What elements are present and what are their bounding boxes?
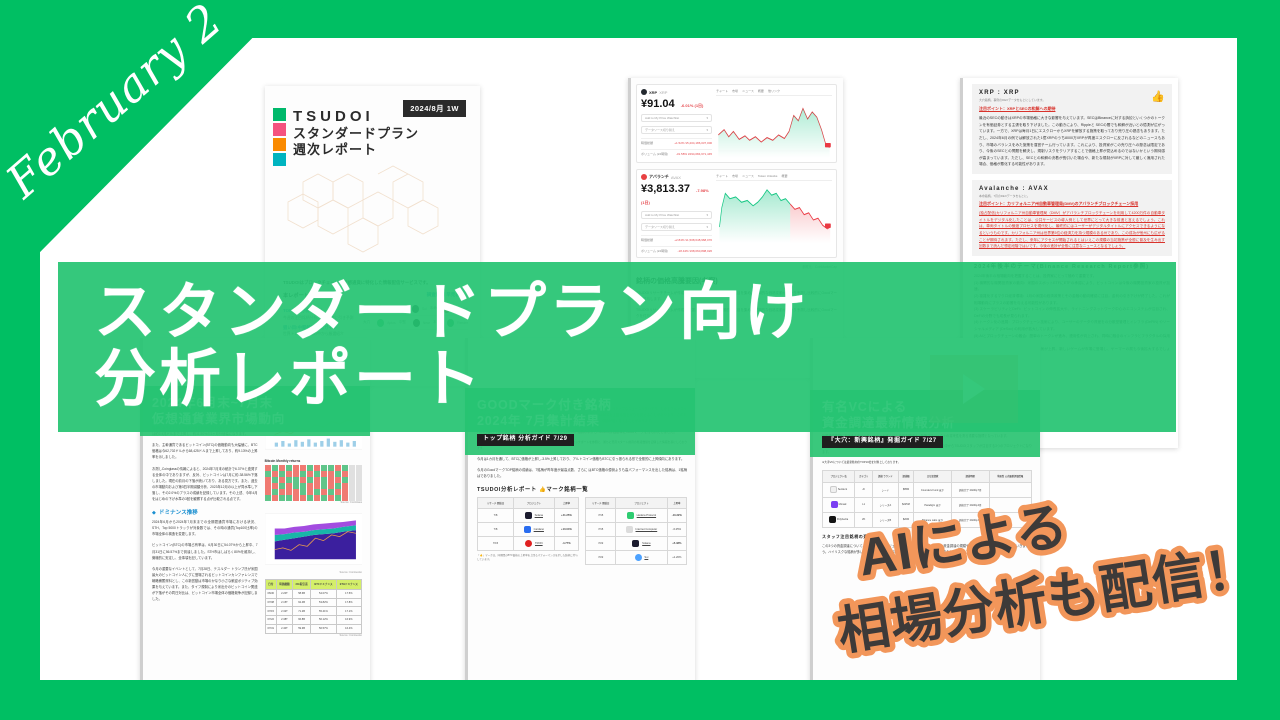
block-title: Avalanche : AVAX bbox=[979, 186, 1165, 192]
th-volume: 24h取引高 bbox=[292, 579, 310, 589]
stat-value: -18.44% ¥68,060,808,026 bbox=[678, 249, 713, 253]
token-icon bbox=[626, 526, 633, 533]
coin-title: アバランチ AVAX bbox=[641, 174, 712, 180]
project-name: Sentient bbox=[838, 488, 847, 491]
price-value: ¥3,813.37 bbox=[641, 183, 690, 195]
swatch-pink bbox=[273, 123, 286, 136]
table-row: Monad L1 シリーズA $225M Paradigm ほか 調達完了 20… bbox=[823, 497, 1032, 512]
analysis-block-avax: Avalanche : AVAX 本命銘柄。7月のDEXデータをもとに。 注目ポ… bbox=[972, 180, 1172, 256]
market-para-2: また、主幹通貨であるビットコイン(BTC)の価格動向も大幅値に、BTC価格は今6… bbox=[152, 442, 258, 460]
watchlist-label: Add to My Price Watchlist bbox=[645, 116, 679, 120]
table-row: 7/22 Solana +5.48% bbox=[586, 537, 687, 551]
project-name: Hedera Protocol bbox=[637, 514, 656, 517]
table-source: Source: CoinGecko bbox=[265, 634, 362, 637]
project-name: Sui bbox=[644, 556, 648, 559]
tab-market[interactable]: 市場 bbox=[732, 174, 738, 178]
th-change: 上昇率 bbox=[554, 498, 578, 509]
th-amount: 調達額 bbox=[898, 470, 914, 482]
coin-ticker-label: XRP bbox=[659, 90, 667, 95]
table-row: 07/082.15T 62.4B53.82% 17.8% bbox=[265, 598, 361, 607]
market-para-5: ビットコイン(BTC)の市場占有率は、6月30日に54.07%から上昇中、7月3… bbox=[152, 542, 258, 560]
token-icon bbox=[525, 512, 532, 519]
table-row: 06/302.20T 58.6B54.07% 17.5% bbox=[265, 589, 361, 598]
stat-market-cap: 時価総額 +1.52% ¥5,204,186,037,000 bbox=[641, 138, 712, 145]
watchlist-dropdown[interactable]: Add to My Price Watchlist▾ bbox=[641, 114, 712, 122]
tab-overview[interactable]: 概要 bbox=[781, 174, 787, 178]
project-name: Monad bbox=[839, 503, 847, 506]
price-change: -6.01% (1日) bbox=[681, 103, 704, 108]
xrp-price-sparkline bbox=[716, 96, 832, 158]
brand-swatches bbox=[273, 108, 286, 166]
market-para-4: 2024年6月から2024年7月末までの全期間通貨市場における状況、STH、To… bbox=[152, 519, 258, 537]
project-name: Polyhedra bbox=[837, 518, 848, 521]
vc-footer-heading: スタッフ注目銘柄の選定基準 bbox=[822, 534, 1032, 540]
block-lead: 注目ポイント：XRPとSECの和解への期待 bbox=[979, 106, 1165, 112]
th-outlook: 将来性 公式最新評価情報 bbox=[989, 470, 1031, 482]
th-round: 調達 ラウンド bbox=[873, 470, 899, 482]
stat-volume: ボリューム (24時間) -18.44% ¥68,060,808,026 bbox=[641, 246, 712, 253]
stat-label: ボリューム (24時間) bbox=[641, 249, 668, 253]
coin-name-label: XRP bbox=[649, 90, 657, 95]
swatch-green bbox=[273, 108, 286, 121]
th-ethdom: ETHドミナンス bbox=[336, 579, 361, 589]
table-row: 07/152.32T 71.2B55.41% 17.1% bbox=[265, 607, 361, 616]
block-lead: 注目ポイント：カリフォルニア州自動車管理局(DMV)のアバランチブロックチェーン… bbox=[979, 201, 1165, 207]
project-name: Internet Computer bbox=[636, 528, 658, 531]
table-row: 7/15 Internet Computer -6.25% bbox=[586, 523, 687, 537]
block-subtitle: 本命銘柄。7月のDEXデータをもとに。 bbox=[979, 194, 1165, 198]
datasource-label: データソース切り替え bbox=[645, 128, 675, 132]
hexagon-pattern-decoration bbox=[273, 162, 473, 272]
avalanche-logo-icon bbox=[641, 174, 647, 180]
project-name: TRON bbox=[535, 542, 543, 545]
project-logo-icon bbox=[829, 516, 836, 523]
table-row: Polyhedra ZK シリーズB $20M Binance Labs ほか … bbox=[823, 512, 1032, 527]
coin-price: ¥91.04 -6.01% (1日) bbox=[641, 98, 712, 110]
project-name: Solana bbox=[535, 514, 543, 517]
th-project: プロジェクト bbox=[514, 498, 555, 509]
stat-label: 時価総額 bbox=[641, 141, 653, 145]
price-card-avax: アバランチ AVAX ¥3,813.37 -7.98% (1日) Add to … bbox=[636, 169, 837, 258]
table-row: 07/222.38T 66.8B56.12% 16.9% bbox=[265, 616, 361, 625]
vc-funding-table: プロジェクト名 カテゴリ 調達 ラウンド 調達額 主な投資家 調達時期 将来性 … bbox=[822, 470, 1032, 528]
th-date: 日付 bbox=[265, 579, 276, 589]
brand-name: TSUDOI bbox=[293, 108, 419, 126]
token-icon bbox=[524, 526, 531, 533]
cover-date-badge: 2024/8月 1W bbox=[403, 100, 466, 117]
coin-title: XRP XRP bbox=[641, 89, 712, 95]
token-icon bbox=[627, 512, 634, 519]
monthly-returns-heatmap bbox=[265, 465, 362, 501]
good-table-right: リサーチ 開始日 プロジェクト 上昇率 7/15 Hedera Protocol… bbox=[585, 497, 687, 565]
stat-label: 時価総額 bbox=[641, 238, 653, 242]
tab-overview[interactable]: 概要 bbox=[758, 89, 764, 93]
block-title: XRP : XRP bbox=[979, 90, 1045, 96]
dominance-data-table: 日付 時価総額 24h取引高 BTCドミナンス ETHドミナンス 06/302.… bbox=[265, 579, 362, 634]
market-section-heading-2: ドミナンス推移 bbox=[152, 508, 258, 516]
watchlist-dropdown[interactable]: Add to My Price Watchlist▾ bbox=[641, 211, 712, 219]
cover-title-line2: 週次レポート bbox=[293, 142, 419, 158]
tab-market[interactable]: 市場 bbox=[732, 89, 738, 93]
chart-nav-tabs[interactable]: チャート 市場 ニュース 概要 他リンク bbox=[716, 89, 832, 96]
block-body: 最近のSECの動きはXRPの市場価格に大きな影響を与えています。SECはBina… bbox=[979, 115, 1165, 168]
chart-nav-tabs[interactable]: チャート 市場 ニュース Token Unlocks 概要 bbox=[716, 174, 832, 181]
swatch-orange bbox=[273, 138, 286, 151]
market-para-3: お測しCoinglassの情報によると、2024年7月末の統計で6.37%と連発… bbox=[152, 466, 258, 503]
xrp-logo-icon bbox=[641, 89, 647, 95]
table-row: 7/15 Hedera Protocol -10.32% bbox=[586, 509, 687, 523]
th-category: カテゴリ bbox=[855, 470, 873, 482]
cover-title-line1: スタンダードプラン bbox=[293, 126, 419, 142]
good-table-note: 「👍」マークは、同期間のBTC価格の上昇率を上回るパフォーマンスを示した銘柄に付… bbox=[477, 554, 579, 562]
th-marketcap: 時価総額 bbox=[276, 579, 292, 589]
stat-label: ボリューム (24時間) bbox=[641, 152, 668, 156]
table-header-row: 日付 時価総額 24h取引高 BTCドミナンス ETHドミナンス bbox=[265, 579, 361, 589]
coin-name-label: アバランチ bbox=[649, 174, 669, 180]
avax-price-sparkline bbox=[716, 181, 832, 243]
table-header-row: プロジェクト名 カテゴリ 調達 ラウンド 調達額 主な投資家 調達時期 将来性 … bbox=[823, 470, 1032, 482]
main-title-banner: スタンダードプラン向け 分析レポート bbox=[58, 262, 1176, 432]
stat-market-cap: 時価総額 +2.84% ¥1,508,648,968,070 bbox=[641, 235, 712, 242]
market-para-6: 今月の重要なイベントとして、7月28日、テスルダー トランプ氏が米国最大のビット… bbox=[152, 566, 258, 603]
th-start-date: リサーチ 開始日 bbox=[478, 498, 514, 509]
table-row: Sentient AI シード $85M Founders Fund ほか 調達… bbox=[823, 482, 1032, 497]
token-icon bbox=[635, 554, 642, 561]
tab-chart[interactable]: チャート bbox=[716, 89, 728, 93]
stat-volume: ボリューム (24時間) -31.58% ¥294,084,671,445 bbox=[641, 149, 712, 156]
tab-token-unlocks[interactable]: Token Unlocks bbox=[758, 174, 778, 178]
table-row: 7/8 Solana +41.25% bbox=[478, 509, 579, 523]
tab-links[interactable]: 他リンク bbox=[768, 89, 780, 93]
price-card-xrp: XRP XRP ¥91.04 -6.01% (1日) Add to My Pri… bbox=[636, 84, 837, 163]
banner-line-2: 分析レポート bbox=[94, 347, 1176, 414]
project-logo-icon bbox=[831, 501, 838, 508]
token-icon bbox=[525, 540, 532, 547]
table-row: 7/22 Sui +1.20% bbox=[586, 551, 687, 565]
tab-news[interactable]: ニュース bbox=[742, 174, 754, 178]
green-header-tag: 『大穴：新興銘柄』発掘ガイド 7/27 bbox=[822, 436, 943, 448]
stat-value: +2.84% ¥1,508,648,968,070 bbox=[674, 238, 712, 242]
tab-chart[interactable]: チャート bbox=[716, 174, 728, 178]
th-date: 調達時期 bbox=[951, 470, 989, 482]
table-row: 07/312.40T 59.3B56.57% 16.4% bbox=[265, 624, 361, 633]
heatmap-source: Source: CoinGlass bbox=[265, 501, 362, 504]
table-row: 7/15 TRON -4.77% bbox=[478, 537, 579, 551]
good-table-title: TSUDOI分析レポート 👍マーク銘柄一覧 bbox=[477, 485, 687, 493]
project-name: Cardano bbox=[534, 528, 544, 531]
th-project: プロジェクト bbox=[616, 498, 667, 509]
coin-ticker-label: AVAX bbox=[671, 175, 681, 180]
good-para-5: 今月のGoodマークTOP銘柄の成績は、7銘柄が昨年度が最高点数、さらに はBT… bbox=[477, 467, 687, 479]
analysis-block-xrp: XRP : XRP 大穴銘柄。事例のDEXデータをもとにしています。 👍 注目ポ… bbox=[972, 84, 1172, 174]
stat-value: -31.58% ¥294,084,671,445 bbox=[676, 152, 712, 156]
datasource-label: データソース切り替え bbox=[645, 225, 675, 229]
th-investors: 主な投資家 bbox=[914, 470, 952, 482]
dominance-source: Source: CoinGecko bbox=[265, 571, 362, 574]
table-header-row: リサーチ 開始日 プロジェクト 上昇率 bbox=[586, 498, 687, 509]
good-para-4: 今月は1カ月を通して、BTCに価格が上昇し-3.5%上昇しており、アルトコイン価… bbox=[477, 456, 687, 462]
datasource-dropdown[interactable]: データソース切り替え▾ bbox=[641, 223, 712, 231]
vc-para-3: ※大手VCについては最新動向のTOP10社を対象としております。 bbox=[822, 460, 1032, 465]
block-body: (独占配信)カリフォルニア州自動車管理局（DMV）がアバランチブロックチェーンを… bbox=[979, 210, 1165, 250]
th-start-date: リサーチ 開始日 bbox=[586, 498, 616, 509]
coin-price: ¥3,813.37 -7.98% (1日) bbox=[641, 183, 712, 207]
tab-news[interactable]: ニュース bbox=[742, 89, 754, 93]
thumbs-up-icon: 👍 bbox=[1151, 90, 1165, 103]
banner-line-1: スタンダードプラン向け bbox=[94, 280, 1176, 347]
good-table-left: リサーチ 開始日 プロジェクト 上昇率 7/8 Solana +41.25% bbox=[477, 497, 579, 551]
th-project: プロジェクト名 bbox=[823, 470, 855, 482]
heatmap-caption: Bitcoin Monthly returns bbox=[265, 459, 362, 463]
token-icon bbox=[632, 540, 639, 547]
th-btcdom: BTCドミナンス bbox=[311, 579, 336, 589]
vc-footer-para: この3つの資金調達について、それぞれのプロジェクト詳細を記載いたします。また資金… bbox=[822, 544, 1032, 556]
green-header-tag: トップ銘柄 分析ガイド 7/29 bbox=[477, 434, 574, 446]
project-name: Solana bbox=[642, 542, 650, 545]
watchlist-label: Add to My Price Watchlist bbox=[645, 213, 679, 217]
table-header-row: リサーチ 開始日 プロジェクト 上昇率 bbox=[478, 498, 579, 509]
stat-value: +1.52% ¥5,204,186,037,000 bbox=[674, 141, 712, 145]
th-change: 上昇率 bbox=[667, 498, 686, 509]
datasource-dropdown[interactable]: データソース切り替え▾ bbox=[641, 126, 712, 134]
block-subtitle: 大穴銘柄。事例のDEXデータをもとにしています。 bbox=[979, 98, 1045, 102]
project-logo-icon bbox=[830, 486, 837, 493]
table-row: 7/8 Cardano +10.04% bbox=[478, 523, 579, 537]
price-value: ¥91.04 bbox=[641, 98, 675, 110]
dominance-area-chart bbox=[265, 508, 362, 570]
